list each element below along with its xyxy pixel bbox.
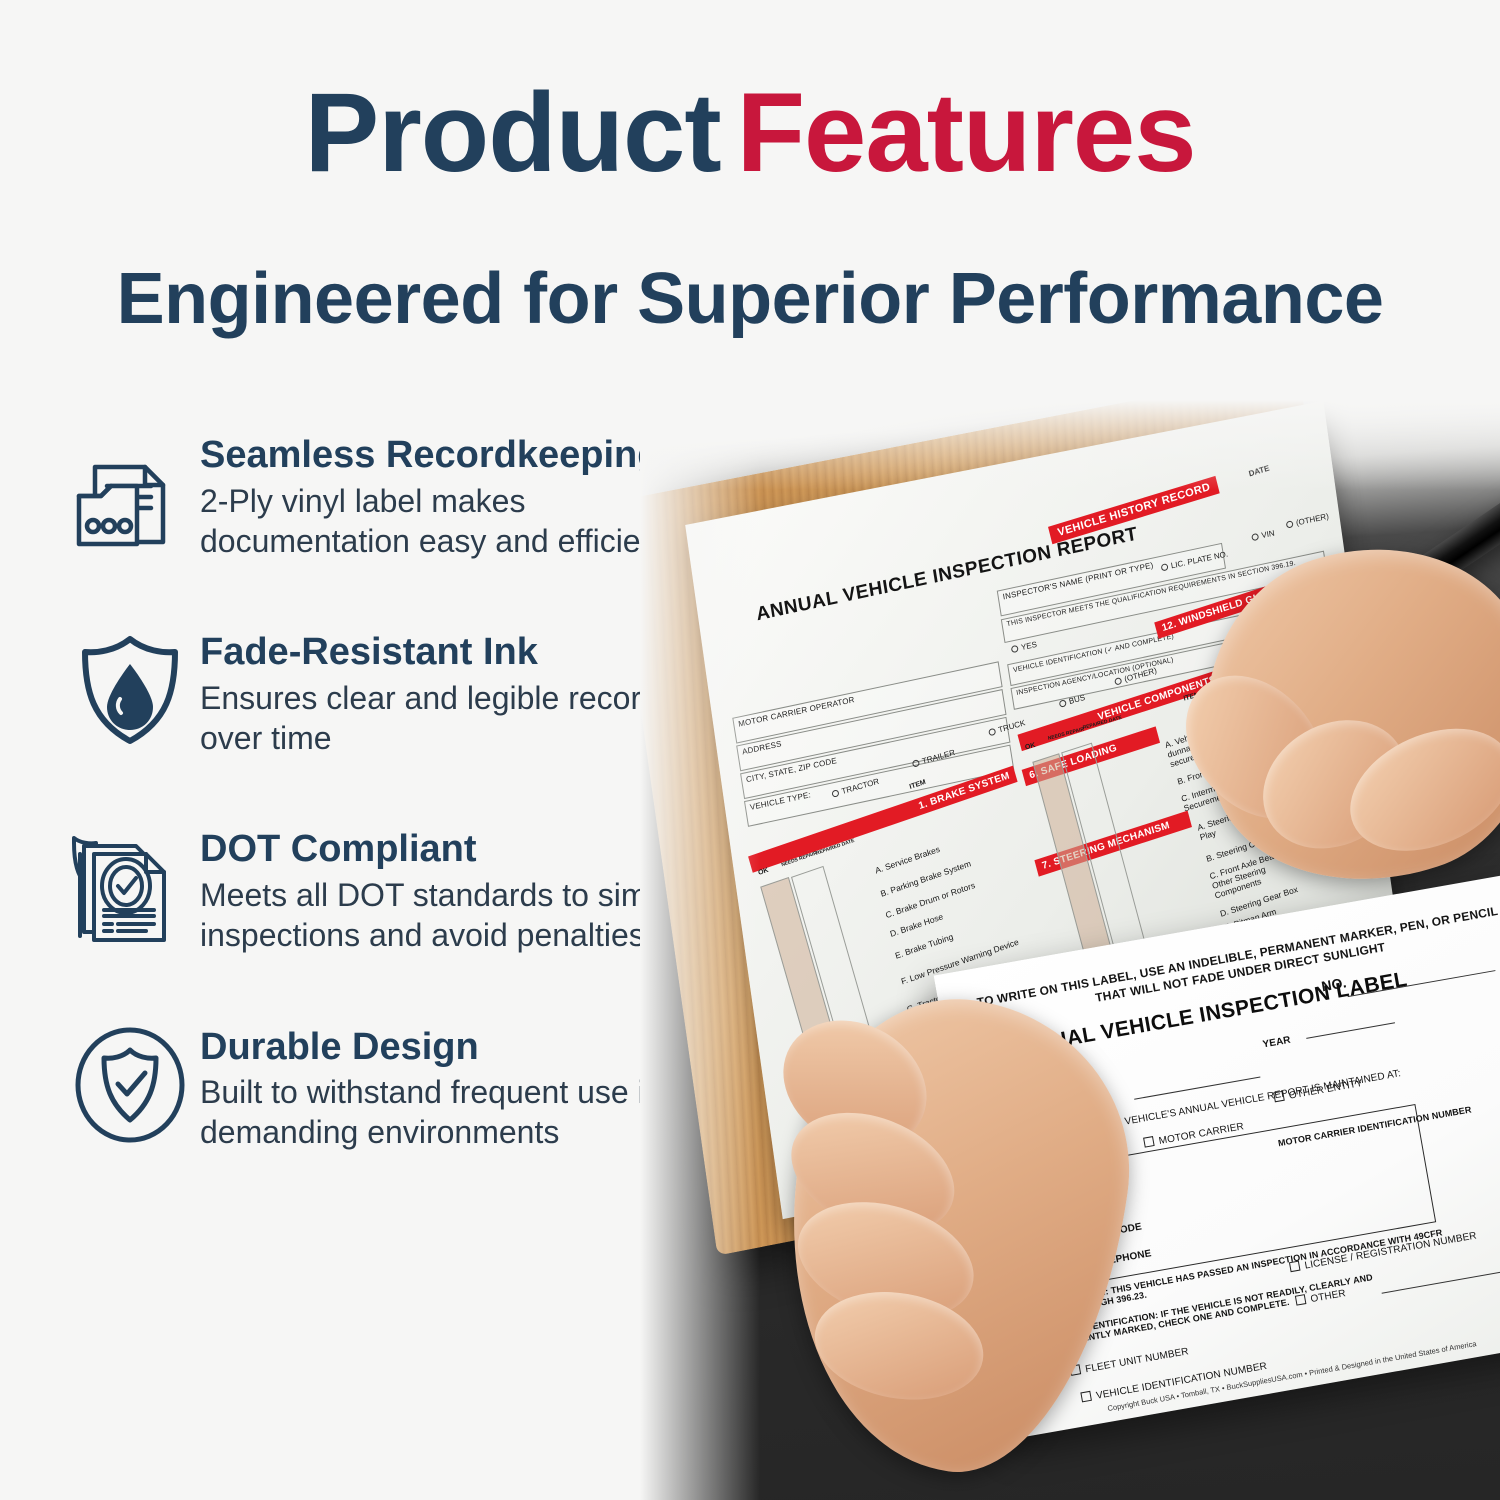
feature-desc-line1: 2-Ply vinyl label makes bbox=[200, 483, 525, 519]
feature-desc-line2: over time bbox=[200, 720, 332, 756]
feature-description: Ensures clear and legible records over t… bbox=[200, 678, 675, 759]
feature-text: Durable Design Built to withstand freque… bbox=[200, 1022, 663, 1153]
feature-desc-line1: Built to withstand frequent use in bbox=[200, 1074, 663, 1110]
other-entity-checkbox[interactable]: OTHER ENTITY bbox=[1273, 1077, 1363, 1104]
page-title-part2: Features bbox=[737, 70, 1196, 195]
fleet-unit-label: FLEET UNIT NUMBER bbox=[1085, 1346, 1190, 1375]
page-subtitle: Engineered for Superior Performance bbox=[0, 262, 1500, 338]
other-id-checkbox[interactable]: (OTHER) bbox=[1286, 512, 1330, 530]
brake-item: E. Brake Tubing bbox=[894, 931, 954, 961]
other-id-label: (OTHER) bbox=[1295, 512, 1329, 528]
feature-description: Meets all DOT standards to simplify insp… bbox=[200, 875, 704, 956]
product-features-infographic: ProductFeatures Engineered for Superior … bbox=[0, 0, 1500, 1500]
feature-desc-line1: Meets all DOT standards to simplify bbox=[200, 877, 704, 913]
top-fade-mask bbox=[640, 400, 1500, 490]
shield-droplet-icon bbox=[60, 627, 200, 749]
shield-check-circle-icon bbox=[60, 1022, 200, 1144]
fleet-unit-checkbox[interactable]: FLEET UNIT NUMBER bbox=[1070, 1345, 1190, 1378]
document-check-shield-icon bbox=[60, 824, 200, 952]
feature-desc-line2: inspections and avoid penalties bbox=[200, 917, 645, 953]
year-label: YEAR bbox=[1262, 1035, 1292, 1051]
feature-text: Seamless Recordkeeping 2-Ply vinyl label… bbox=[200, 430, 667, 561]
left-fade-mask bbox=[640, 400, 760, 1500]
page-title: ProductFeatures bbox=[0, 74, 1500, 192]
feature-desc-line2: documentation easy and efficient bbox=[200, 523, 667, 559]
product-photo: BUCK U.S. ANNUAL VEHICLE INSPECTION REPO… bbox=[640, 400, 1500, 1500]
feature-description: Built to withstand frequent use in deman… bbox=[200, 1072, 663, 1153]
col-ok-right: OK bbox=[1024, 742, 1036, 752]
feature-desc-line2: demanding environments bbox=[200, 1114, 559, 1150]
feature-description: 2-Ply vinyl label makes documentation ea… bbox=[200, 481, 667, 562]
feature-desc-line1: Ensures clear and legible records bbox=[200, 680, 675, 716]
vin-label: VIN bbox=[1261, 528, 1275, 540]
yes-label: YES bbox=[1020, 640, 1037, 652]
page-title-part1: Product bbox=[305, 70, 721, 195]
feature-title: DOT Compliant bbox=[200, 828, 704, 871]
feature-title: Durable Design bbox=[200, 1026, 663, 1069]
documents-tray-icon bbox=[60, 430, 200, 552]
feature-text: Fade-Resistant Ink Ensures clear and leg… bbox=[200, 627, 675, 758]
vin-checkbox[interactable]: VIN bbox=[1251, 528, 1275, 542]
feature-text: DOT Compliant Meets all DOT standards to… bbox=[200, 824, 704, 955]
feature-title: Fade-Resistant Ink bbox=[200, 631, 675, 674]
yes-checkbox[interactable]: YES bbox=[1011, 640, 1038, 654]
feature-title: Seamless Recordkeeping bbox=[200, 434, 667, 477]
